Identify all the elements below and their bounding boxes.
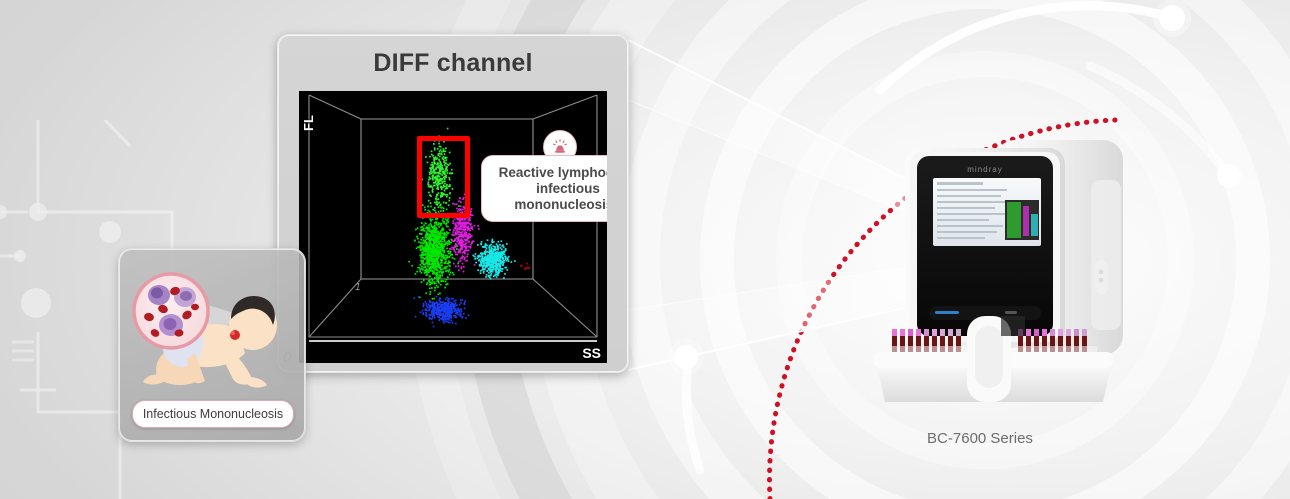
device-caption: BC-7600 Series	[880, 430, 1080, 447]
siren-glyph	[551, 138, 569, 156]
infectious-mononucleosis-card: Infectious Mononucleosis	[118, 248, 306, 442]
baby-illustration	[119, 249, 305, 409]
banner-stage: mindray	[0, 0, 1290, 499]
reactive-lymphocyte-highlight-box	[417, 136, 470, 218]
axis-tick-1: 1	[355, 282, 361, 293]
diff-card-title: DIFF channel	[278, 35, 628, 91]
reactive-lymphocyte-callout: Reactive lymphocyte-infectious mononucle…	[481, 155, 607, 222]
infectious-mononucleosis-label: Infectious Mononucleosis	[132, 400, 294, 428]
axis-label-fl: FL	[301, 115, 316, 131]
axis-label-ss: SS	[582, 345, 601, 361]
diff-scatter-plot: FL SS 1 Reactive lymphocyte-infectious m…	[299, 91, 607, 363]
hematology-analyzer: mindray	[855, 120, 1145, 410]
svg-text:mindray: mindray	[967, 165, 1002, 174]
blood-smear-microscopy-icon	[134, 274, 208, 348]
diff-channel-card: DIFF channel	[277, 34, 629, 373]
